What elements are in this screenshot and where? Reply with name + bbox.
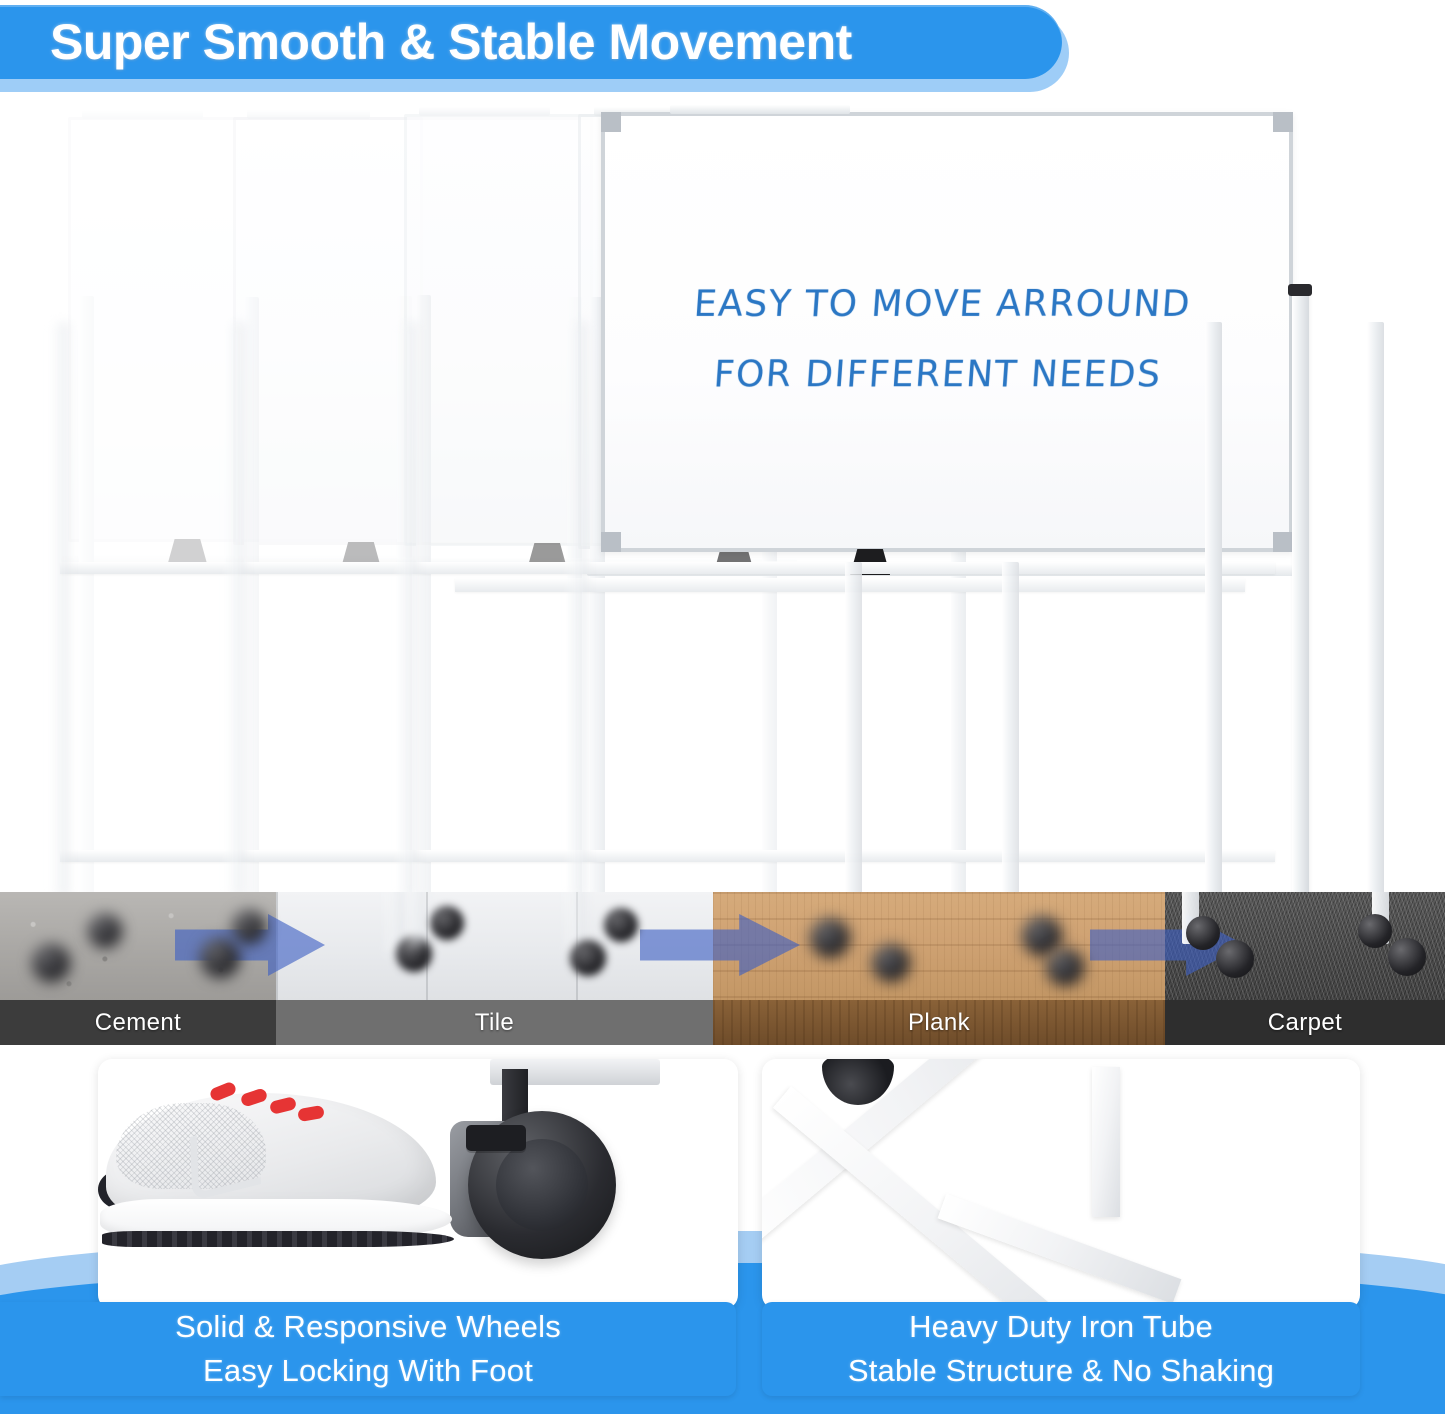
feature-photo-wheels: [98, 1059, 738, 1309]
frame-corner-top-right: [1273, 112, 1293, 132]
caster-hub: [496, 1139, 588, 1231]
caster-wheel: [1046, 948, 1084, 986]
stand-leg-ghost-4: [570, 322, 587, 897]
frame-corner-bottom-right: [1273, 532, 1293, 552]
carpet-label-band: Carpet: [1165, 1000, 1445, 1045]
floor-segment-plank: Plank: [713, 892, 1165, 1045]
stand-leg-mid-2: [1002, 562, 1019, 897]
caster-wheel: [232, 910, 266, 944]
whiteboard-cap-rail: [82, 110, 203, 119]
whiteboard-writing: EASY TO MOVE ARROUND FOR DIFFERENT NEEDS: [655, 270, 1225, 410]
stand-leg-on-plank: [408, 892, 425, 946]
pivot-knob[interactable]: [1288, 284, 1312, 296]
frame-corner-top-left: [601, 112, 621, 132]
stand-leg-mid: [845, 562, 862, 897]
caster-wheel: [1358, 914, 1392, 948]
page-title: Super Smooth & Stable Movement: [50, 10, 1040, 74]
caster-wheel: [604, 908, 638, 942]
floor-surface-strip: Cement Tile Plank Carpet: [0, 892, 1445, 1045]
caption-line-1: Solid & Responsive Wheels: [175, 1305, 561, 1349]
floor-label-plank: Plank: [908, 1009, 970, 1037]
caster-wheel: [872, 944, 910, 982]
bottom-feature-section: Solid & Responsive Wheels Easy Locking W…: [0, 1045, 1445, 1414]
caption-frame: Heavy Duty Iron Tube Stable Structure & …: [762, 1302, 1360, 1396]
floor-label-cement: Cement: [95, 1009, 181, 1037]
whiteboard-cap-rail: [247, 110, 369, 119]
caption-line-2: Stable Structure & No Shaking: [848, 1349, 1274, 1393]
floor-segment-tile: Tile: [276, 892, 713, 1045]
whiteboard-cap-rail: [419, 107, 550, 116]
caster-brake-lever: [466, 1125, 526, 1151]
floor-label-carpet: Carpet: [1268, 1009, 1342, 1037]
caption-line-2: Easy Locking With Foot: [203, 1349, 533, 1393]
floor-label-tile: Tile: [475, 1009, 514, 1037]
caster-wheel: [32, 944, 70, 982]
header-banner: Super Smooth & Stable Movement: [0, 0, 1069, 92]
feature-photo-frame: [762, 1059, 1360, 1309]
stand-leg-ghost-1: [52, 322, 69, 897]
caster-wheel: [1186, 916, 1220, 950]
cement-label-band: Cement: [0, 1000, 276, 1045]
caster-wheel: [88, 914, 122, 948]
stand-leg-ghost-2: [228, 322, 245, 897]
frame-corner-bottom-left: [601, 532, 621, 552]
plank-label-band: Plank: [713, 1000, 1165, 1045]
stand-leg-ghost-3: [400, 322, 417, 897]
caster-wheel: [570, 940, 606, 976]
caption-line-1: Heavy Duty Iron Tube: [909, 1305, 1213, 1349]
caster-wheel: [1388, 938, 1426, 976]
shoe-outsole: [102, 1231, 454, 1247]
caster-wheel: [430, 906, 464, 940]
stand-leg-far-right: [1367, 322, 1384, 897]
caster-wheel: [200, 938, 240, 978]
whiteboard-cap-rail: [670, 105, 850, 114]
caption-wheels: Solid & Responsive Wheels Easy Locking W…: [0, 1302, 736, 1396]
hero-product-stage: EASY TO MOVE ARROUND FOR DIFFERENT NEEDS…: [0, 92, 1445, 1045]
iron-tube-vertical: [1092, 1067, 1120, 1217]
writing-line-2: FOR DIFFERENT NEEDS: [655, 340, 1220, 410]
tile-label-band: Tile: [276, 1000, 713, 1045]
caster-wheel: [1216, 940, 1254, 978]
caster-wheel: [810, 918, 850, 958]
writing-line-1: EASY TO MOVE ARROUND: [660, 270, 1225, 340]
